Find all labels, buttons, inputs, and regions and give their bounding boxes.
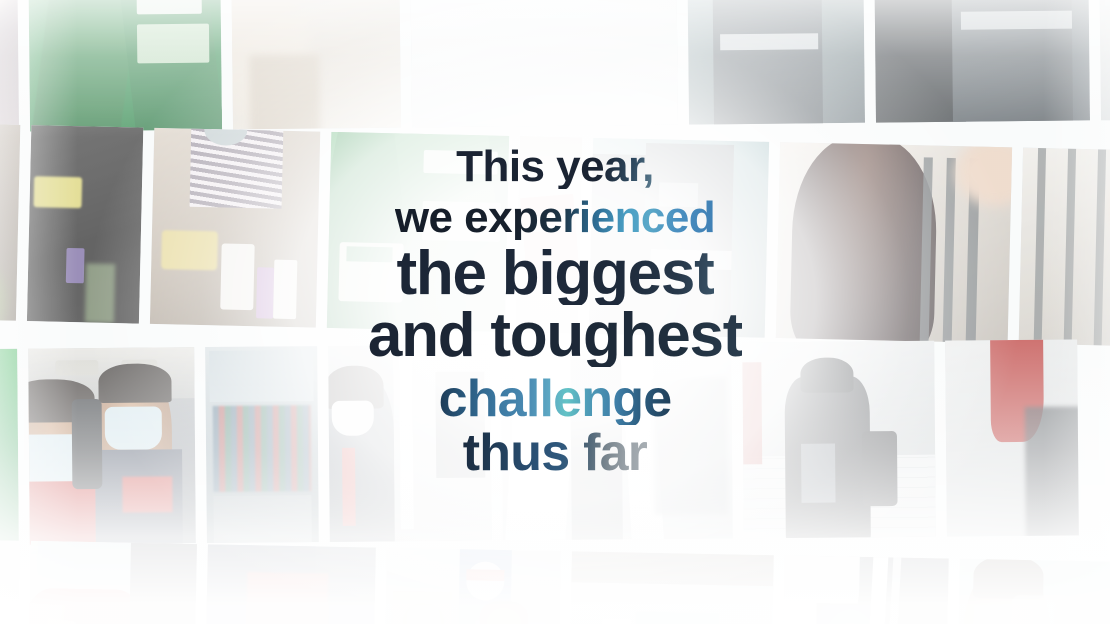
collage-photo-red-fabric-edge [945,339,1079,536]
collage-photo-tattooed-man-navy-shirt [204,544,376,624]
collage-photo-person-in-white-shirt [231,0,401,129]
collage-row [0,338,1110,545]
collage-photo-white-van-open-door [501,342,733,540]
collage-photo-players-arms-crossed [874,0,1090,123]
collage-row [0,0,1110,133]
collage-photo-woman-long-dark-hair [776,142,1012,343]
collage-photo-two-masked-men-in-van [28,347,196,544]
collage-photo-generator-equipment-shed [568,551,774,624]
collage-photo-masked-boy-beside-vehicle [328,345,492,542]
collage-photo-masked-volunteer-packing-goods [150,128,320,328]
collage-photo-street-vendor-stall [205,346,319,543]
collage-photo-green-backdrop-portrait [0,349,19,546]
collage-photo-green-sanitizer-bottles [28,0,222,132]
collage-photo-pepsi-banner-meal-table [383,548,561,624]
collage-photo-hand-at-metal-gate [1019,148,1110,347]
collage-photo-clinic-doorway [1099,0,1110,120]
collage-photo-woman-with-face-shield [956,559,1110,624]
collage-photo-basketball-jersey-players [687,0,865,125]
collage-photo-man-with-backpack-corridor [742,341,936,539]
collage-photo-car-window-reflection [781,555,949,624]
collage-row [0,122,1110,347]
collage-row [0,539,1110,624]
collage-photo-dark-interior-supplies [27,125,143,323]
collage-photo-man-with-wristwatch [0,122,20,320]
collage-photo-bright-white-wall [410,0,678,128]
collage-photo-man-in-green-shirt [0,539,20,624]
collage-photo-green-bottles-closeup [327,132,509,332]
photo-collage-background [0,0,1110,624]
slide-canvas: This year, we experienced the biggest an… [0,0,1110,624]
collage-photo-red-signage-fragment [516,136,582,333]
collage-photo-red-uniform-volunteer [27,541,197,624]
collage-photo-teal-wall-jersey-team [589,138,769,338]
collage-photo-woman-in-striped-shirt [0,0,19,133]
